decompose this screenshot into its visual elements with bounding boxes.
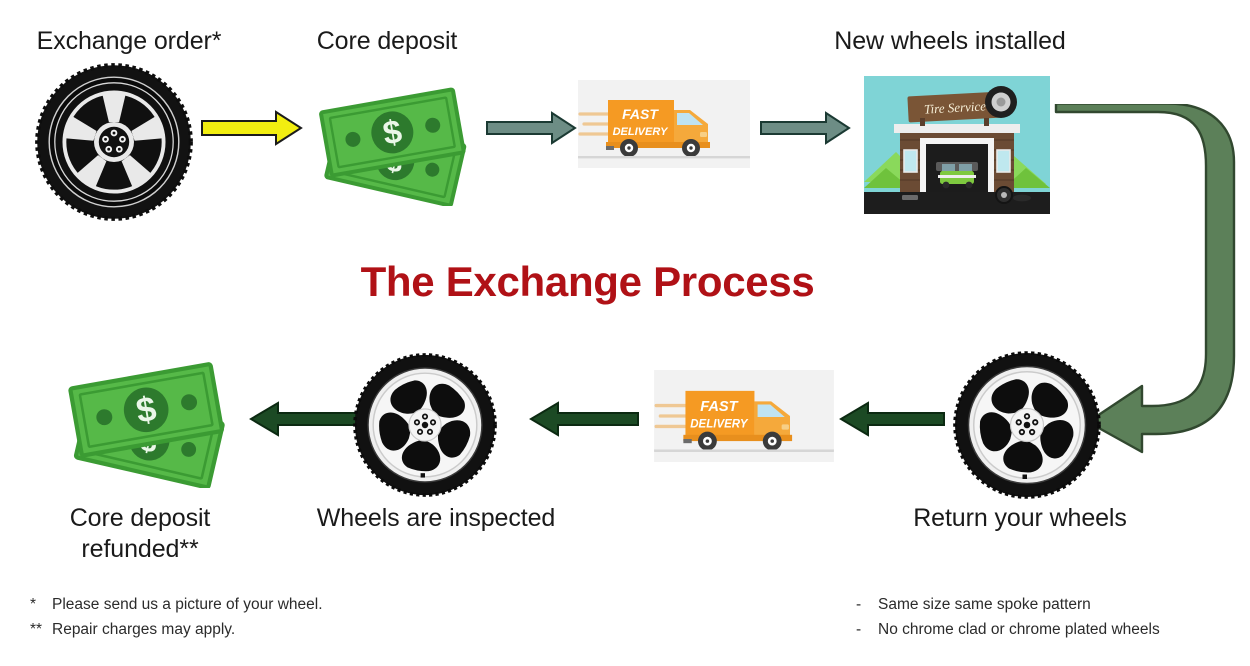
- arrow-6-left-darkgreen: [248, 400, 358, 438]
- tire-service-shop-icon: Tire Service: [864, 76, 1050, 214]
- silver-alloy-wheel-icon-inspected: [352, 352, 498, 498]
- step-label-exchange-order: Exchange order*: [0, 26, 258, 57]
- footnote-text: Same size same spoke pattern: [878, 592, 1091, 617]
- black-alloy-wheel-icon: [34, 62, 194, 222]
- footnote-left-1: * Please send us a picture of your wheel…: [30, 592, 450, 617]
- dollar-bills-icon-top: $ $: [310, 78, 480, 206]
- delivery-truck-icon-inbound: FAST DELIVERY: [654, 370, 834, 462]
- arrow-3-right-graygreen: [760, 110, 852, 146]
- footnote-mark: -: [856, 617, 878, 642]
- footnote-right-2: - No chrome clad or chrome plated wheels: [856, 617, 1250, 642]
- exchange-process-diagram: Exchange order* Core deposit New wheels …: [0, 0, 1250, 666]
- footnote-left-2: ** Repair charges may apply.: [30, 617, 450, 642]
- footnote-mark: -: [856, 592, 878, 617]
- footnote-mark: *: [30, 592, 52, 617]
- footnote-text: Repair charges may apply.: [52, 617, 235, 642]
- arrow-5-left-darkgreen: [528, 400, 640, 438]
- truck-text-line1: FAST: [622, 106, 659, 122]
- step-label-wheels-inspected: Wheels are inspected: [300, 503, 572, 534]
- delivery-truck-icon-outbound: FAST DELIVERY: [578, 80, 750, 168]
- arrow-1-right-yellow: [200, 109, 304, 147]
- footnote-mark: **: [30, 617, 52, 642]
- footnote-right-1: - Same size same spoke pattern: [856, 592, 1250, 617]
- footnote-text: Please send us a picture of your wheel.: [52, 592, 323, 617]
- silver-alloy-wheel-icon-return: [952, 350, 1102, 500]
- footnote-text: No chrome clad or chrome plated wheels: [878, 617, 1160, 642]
- step-label-wheels-installed: New wheels installed: [805, 26, 1095, 57]
- footnotes-right: - Same size same spoke pattern - No chro…: [856, 592, 1250, 642]
- step-label-return-wheels: Return your wheels: [895, 503, 1145, 534]
- footnotes-left: * Please send us a picture of your wheel…: [30, 592, 450, 642]
- dollar-bills-icon-bottom: $ $: [58, 352, 240, 488]
- svg-text:DELIVERY: DELIVERY: [690, 419, 749, 431]
- page-title: The Exchange Process: [0, 258, 1175, 306]
- truck-text-line2: DELIVERY: [613, 126, 669, 138]
- arrow-2-right-graygreen: [486, 110, 578, 146]
- svg-text:FAST: FAST: [700, 399, 738, 415]
- step-label-core-deposit: Core deposit: [282, 26, 492, 57]
- arrow-4-left-darkgreen: [838, 400, 946, 438]
- step-label-deposit-refunded: Core deposit refunded**: [30, 503, 250, 564]
